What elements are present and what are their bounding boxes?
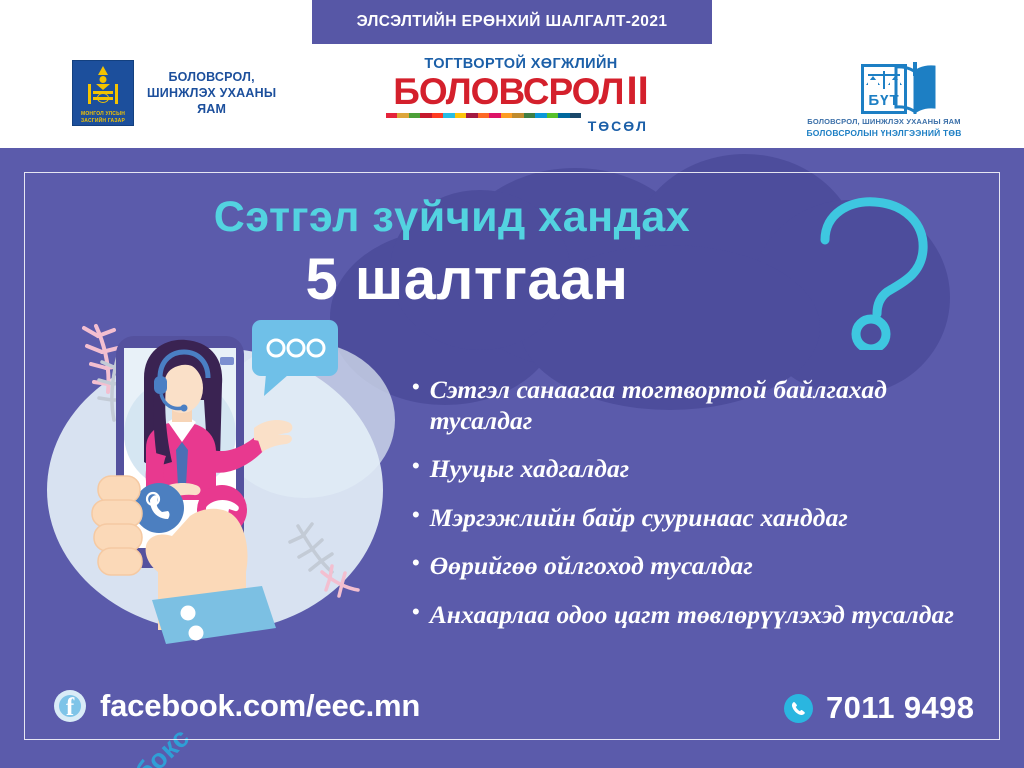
top-banner: ЭЛСЭЛТИЙН ЕРӨНХИЙ ШАЛГАЛТ-2021 bbox=[312, 0, 712, 44]
bullet-marker: • bbox=[412, 454, 420, 478]
poster-root: ЭЛСЭЛТИЙН ЕРӨНХИЙ ШАЛГАЛТ-2021 МОНГОЛ УЛ… bbox=[0, 0, 1024, 768]
list-item: • Сэтгэл санаагаа тогтвортой байлгахад т… bbox=[412, 375, 992, 436]
chatbox-label: Чатбокс bbox=[94, 722, 196, 768]
logo-center-roman: II bbox=[627, 71, 649, 111]
list-item-label: Мэргэжлийн байр сууринаас ханддаг bbox=[430, 503, 848, 534]
reasons-list: • Сэтгэл санаагаа тогтвортой байлгахад т… bbox=[412, 375, 992, 649]
mongolia-state-emblem-icon: МОНГОЛ УЛСЫН ЗАСГИЙН ГАЗАР bbox=[72, 60, 134, 126]
logo-left-line3: ЯАМ bbox=[147, 101, 276, 117]
list-item: • Анхаарлаа одоо цагт төвлөрүүлэхэд туса… bbox=[412, 600, 992, 631]
bullet-marker: • bbox=[412, 503, 420, 527]
facebook-url-label: facebook.com/eec.mn bbox=[100, 688, 420, 724]
soyombo-icon bbox=[92, 66, 114, 108]
list-item-label: Сэтгэл санаагаа тогтвортой байлгахад тус… bbox=[430, 375, 992, 436]
phone-handset-icon bbox=[784, 694, 813, 723]
emblem-caption: МОНГОЛ УЛСЫН ЗАСГИЙН ГАЗАР bbox=[73, 111, 133, 125]
logo-sustainable-education-project: ТОГТВОРТОЙ ХӨГЖЛИЙН БОЛОВСРОЛ II ТӨСӨЛ bbox=[386, 56, 656, 134]
list-item: • Өөрийгөө ойлгоход тусалдаг bbox=[412, 551, 992, 582]
bullet-marker: • bbox=[412, 551, 420, 575]
bullet-marker: • bbox=[412, 600, 420, 624]
logo-ministry-of-education: МОНГОЛ УЛСЫН ЗАСГИЙН ГАЗАР БОЛОВСРОЛ, ШИ… bbox=[72, 60, 276, 126]
main-panel: Чатбокс Сэтгэл зүйчид хандах 5 шалтгаан … bbox=[0, 148, 1024, 768]
open-book-icon bbox=[892, 62, 938, 114]
chatbot-illustration: Чатбокс bbox=[40, 300, 400, 650]
list-item: • Нууцыг хадгалдаг bbox=[412, 454, 992, 485]
list-item: • Мэргэжлийн байр сууринаас ханддаг bbox=[412, 503, 992, 534]
phone-contact[interactable]: 7011 9498 bbox=[784, 690, 974, 726]
logo-education-evaluation-center: БҮТ БОЛОВСРОЛ, ШИНЖЛЭХ УХААНЫ ЯАМ БОЛОВС… bbox=[800, 56, 968, 138]
sdg-color-bar bbox=[386, 113, 581, 118]
logo-left-line1: БОЛОВСРОЛ, bbox=[147, 69, 276, 85]
top-banner-title: ЭЛСЭЛТИЙН ЕРӨНХИЙ ШАЛГАЛТ-2021 bbox=[357, 13, 668, 31]
logo-center-top-text: ТОГТВОРТОЙ ХӨГЖЛИЙН bbox=[386, 56, 656, 72]
list-item-label: Өөрийгөө ойлгоход тусалдаг bbox=[430, 551, 753, 582]
logo-right-line1: БОЛОВСРОЛ, ШИНЖЛЭХ УХААНЫ ЯАМ bbox=[800, 117, 968, 126]
logo-center-bottom-text: ТӨСӨЛ bbox=[386, 118, 648, 134]
logo-right-line2: БОЛОВСРОЛЫН ҮНЭЛГЭЭНИЙ ТӨВ bbox=[800, 128, 968, 138]
list-item-label: Нууцыг хадгалдаг bbox=[430, 454, 630, 485]
bullet-marker: • bbox=[412, 375, 420, 399]
logo-row: МОНГОЛ УЛСЫН ЗАСГИЙН ГАЗАР БОЛОВСРОЛ, ШИ… bbox=[0, 52, 1024, 144]
list-item-label: Анхаарлаа одоо цагт төвлөрүүлэхэд тусалд… bbox=[430, 600, 954, 631]
facebook-link[interactable]: f facebook.com/eec.mn bbox=[54, 688, 420, 724]
byt-mark-icon: БҮТ bbox=[800, 56, 968, 114]
logo-left-text: БОЛОВСРОЛ, ШИНЖЛЭХ УХААНЫ ЯАМ bbox=[147, 69, 276, 118]
phone-number-label: 7011 9498 bbox=[826, 690, 974, 726]
logo-left-line2: ШИНЖЛЭХ УХААНЫ bbox=[147, 85, 276, 101]
logo-center-word: БОЛОВСРОЛ bbox=[393, 73, 623, 110]
question-mark-icon bbox=[795, 190, 955, 350]
facebook-f-icon: f bbox=[54, 690, 86, 722]
